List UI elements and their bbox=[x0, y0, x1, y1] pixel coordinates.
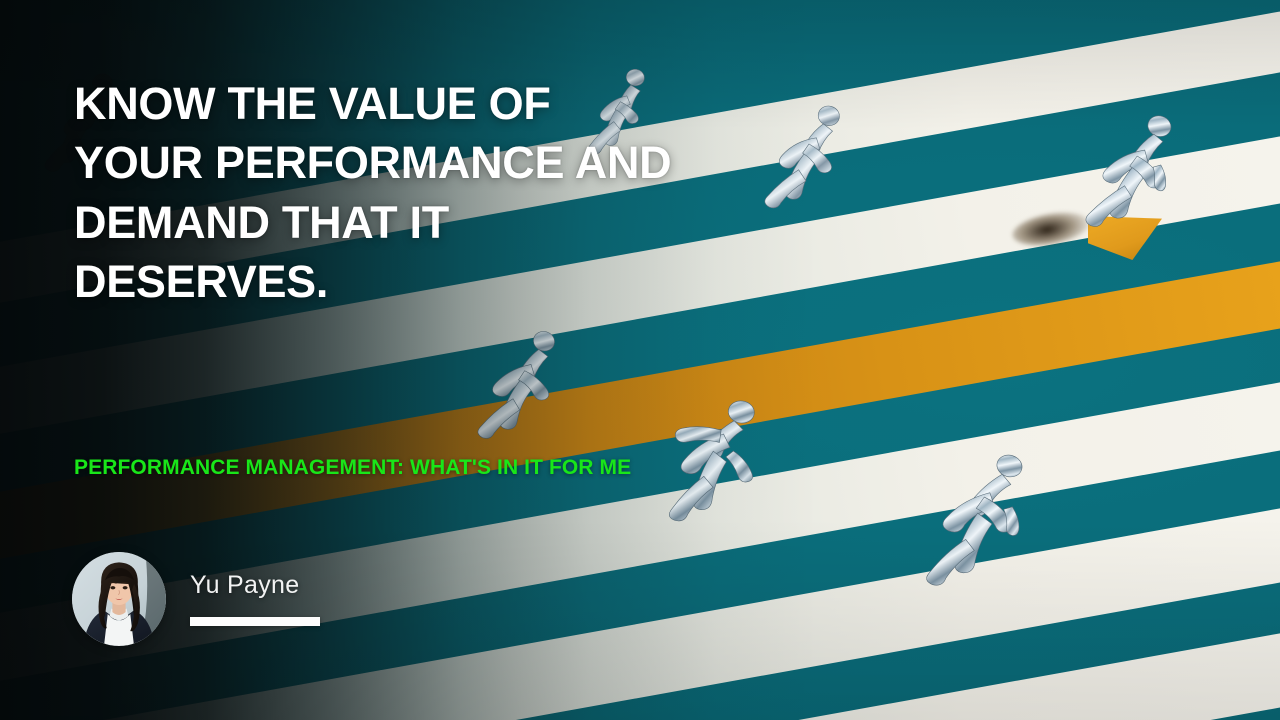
author-block: Yu Payne bbox=[72, 552, 320, 646]
slide-canvas: Know the value of your performance and d… bbox=[0, 0, 1280, 720]
slide-content: Know the value of your performance and d… bbox=[0, 0, 1280, 720]
slide-subtitle: Performance Management: What's in it for… bbox=[74, 452, 754, 484]
page-title: Know the value of your performance and d… bbox=[74, 74, 774, 312]
author-text-block: Yu Payne bbox=[190, 572, 320, 627]
author-underline-rule bbox=[190, 617, 320, 626]
author-name: Yu Payne bbox=[190, 572, 320, 600]
avatar bbox=[72, 552, 166, 646]
